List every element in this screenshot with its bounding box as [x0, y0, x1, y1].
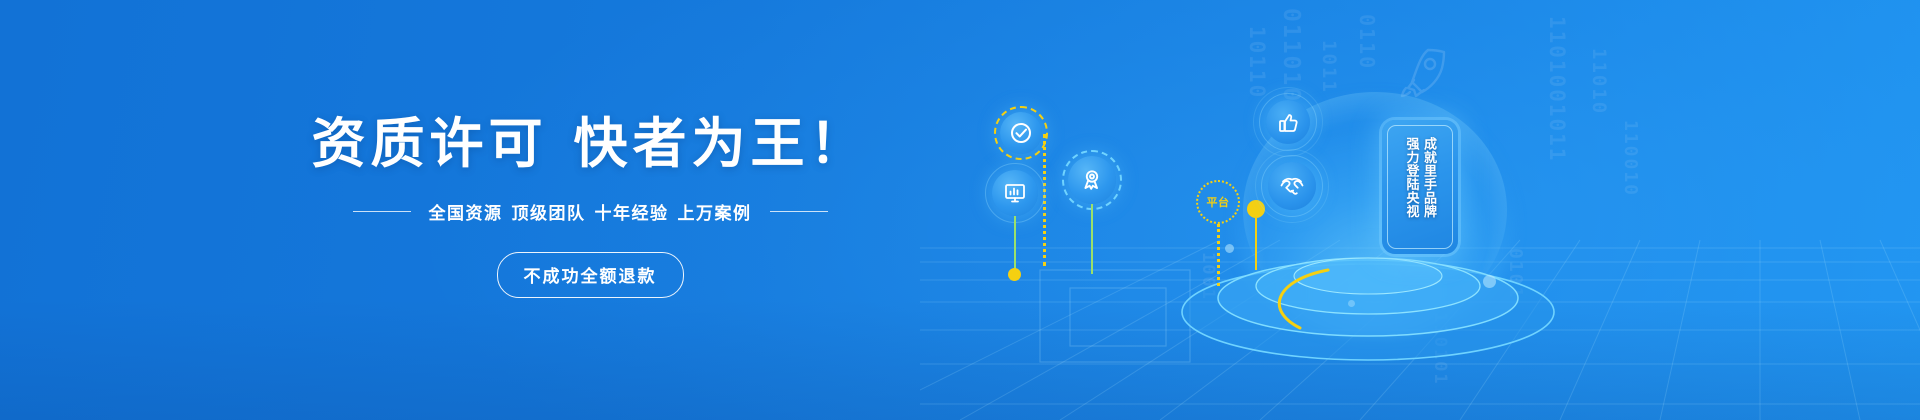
- platform-badge: 平台: [1196, 180, 1240, 224]
- decor-dot: [1225, 244, 1234, 253]
- thumbs-up-icon[interactable]: [1266, 100, 1310, 144]
- binary-decor: 11010: [1588, 48, 1610, 115]
- page-title: 资质许可快者为王！: [312, 117, 869, 171]
- tablet-text-right: 成就里手品牌: [1422, 137, 1437, 218]
- subtitle-item-1: 顶级团队: [512, 204, 586, 223]
- refund-guarantee-button[interactable]: 不成功全额退款: [497, 252, 684, 298]
- headline-part-2: 快者为王！: [574, 114, 869, 174]
- subtitle-item-3: 上万案例: [678, 204, 752, 223]
- tablet-device: 成就里手品牌 强力登陆央视: [1382, 120, 1458, 254]
- decor-dot: [1483, 275, 1496, 288]
- pin-stem-decor: [1217, 224, 1220, 286]
- subtitle-item-0: 全国资源: [429, 204, 503, 223]
- platform-badge-label: 平台: [1207, 194, 1230, 210]
- subtitle-row: 全国资源顶级团队十年经验上万案例: [353, 199, 828, 224]
- binary-decor: 1011: [1318, 40, 1340, 94]
- rule-left: [353, 211, 411, 212]
- promo-banner: 10110 011010 1011 0110 1101001011 11010 …: [0, 0, 1920, 420]
- pin-stem-decor: [1255, 218, 1257, 270]
- binary-decor: 10110: [1245, 26, 1269, 99]
- binary-decor: 0110: [1355, 14, 1379, 70]
- tablet-text-left: 强力登陆央视: [1404, 137, 1419, 218]
- decor-dot: [1348, 300, 1355, 307]
- handshake-icon[interactable]: [1268, 162, 1316, 210]
- banner-copy: 资质许可快者为王！ 全国资源顶级团队十年经验上万案例 不成功全额退款: [0, 0, 1180, 420]
- subtitle-item-2: 十年经验: [595, 204, 669, 223]
- headline-part-1: 资质许可: [312, 114, 548, 174]
- subtitle: 全国资源顶级团队十年经验上万案例: [429, 199, 752, 224]
- rule-right: [770, 211, 828, 212]
- platform-base: [1178, 236, 1558, 362]
